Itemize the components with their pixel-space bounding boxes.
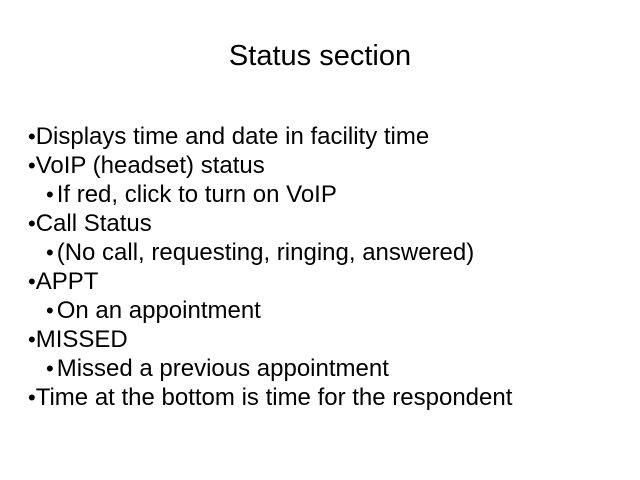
bullet-item-label: Time at the bottom is time for the respo… bbox=[36, 383, 513, 412]
bullet-item: •On an appointment bbox=[28, 296, 628, 325]
bullet-item: •Time at the bottom is time for the resp… bbox=[28, 383, 628, 412]
bullet-point-icon: • bbox=[28, 267, 36, 296]
bullet-item: •VoIP (headset) status bbox=[28, 151, 628, 180]
bullet-item: •If red, click to turn on VoIP bbox=[28, 180, 628, 209]
bullet-item: •Displays time and date in facility time bbox=[28, 122, 628, 151]
slide-body-bullet-list: •Displays time and date in facility time… bbox=[28, 122, 628, 412]
bullet-point-icon: • bbox=[46, 296, 54, 325]
bullet-item: •Missed a previous appointment bbox=[28, 354, 628, 383]
presentation-slide: Status section •Displays time and date i… bbox=[0, 0, 640, 480]
bullet-point-icon: • bbox=[28, 325, 36, 354]
bullet-item-label: (No call, requesting, ringing, answered) bbox=[57, 238, 475, 267]
bullet-item-label: If red, click to turn on VoIP bbox=[57, 180, 337, 209]
page-title: Status section bbox=[0, 38, 640, 74]
bullet-item-label: Missed a previous appointment bbox=[57, 354, 389, 383]
bullet-item-label: On an appointment bbox=[57, 296, 261, 325]
bullet-point-icon: • bbox=[46, 238, 54, 267]
bullet-point-icon: • bbox=[28, 151, 36, 180]
bullet-point-icon: • bbox=[28, 209, 36, 238]
bullet-point-icon: • bbox=[46, 180, 54, 209]
bullet-item-label: Displays time and date in facility time bbox=[36, 122, 430, 151]
bullet-item-label: MISSED bbox=[36, 325, 128, 354]
bullet-item-label: Call Status bbox=[36, 209, 152, 238]
bullet-item: •MISSED bbox=[28, 325, 628, 354]
bullet-item: •Call Status bbox=[28, 209, 628, 238]
bullet-item: •APPT bbox=[28, 267, 628, 296]
bullet-item-label: VoIP (headset) status bbox=[36, 151, 265, 180]
bullet-point-icon: • bbox=[46, 354, 54, 383]
bullet-point-icon: • bbox=[28, 383, 36, 412]
bullet-item-label: APPT bbox=[36, 267, 99, 296]
bullet-point-icon: • bbox=[28, 122, 36, 151]
bullet-item: •(No call, requesting, ringing, answered… bbox=[28, 238, 628, 267]
